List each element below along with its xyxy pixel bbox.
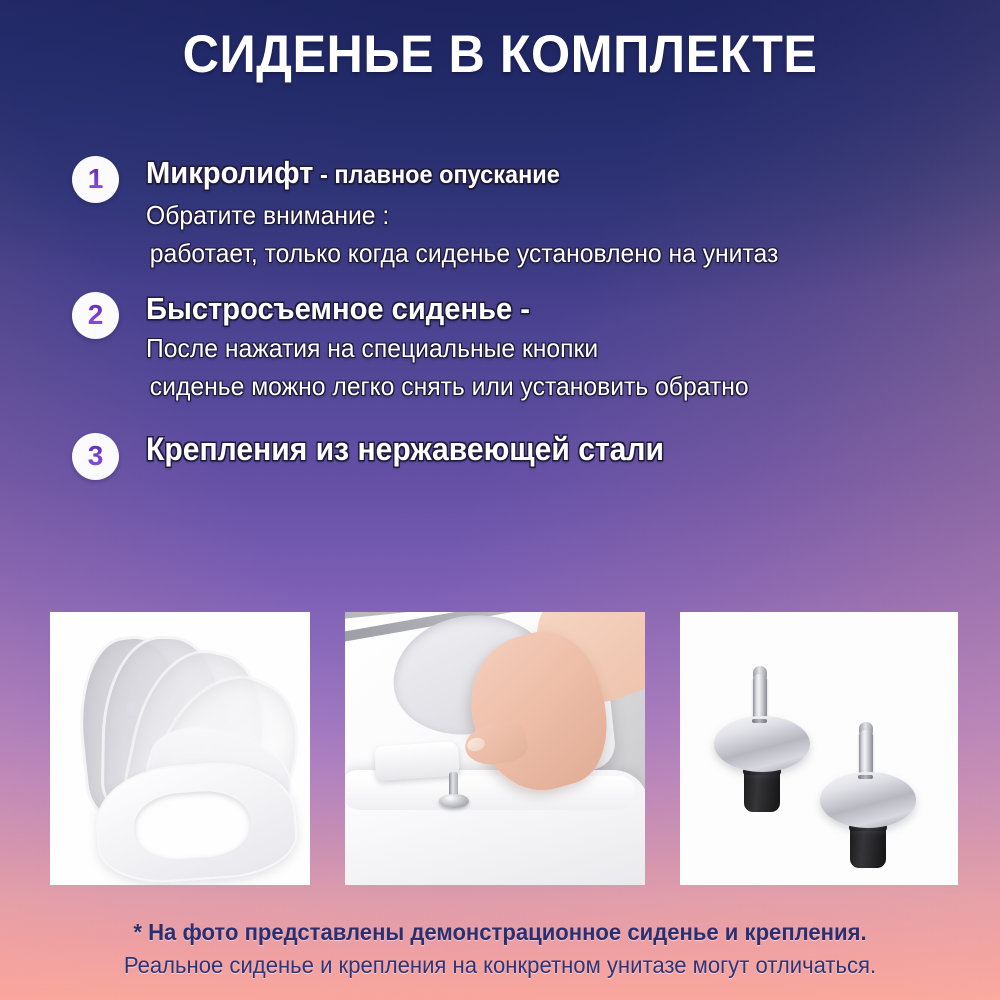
- feature-item-2: 2 Быстросъемное сиденье - После нажатия …: [0, 286, 1000, 405]
- product-feature-banner: СИДЕНЬЕ В КОМПЛЕКТЕ 1 Микролифт - плавно…: [0, 0, 1000, 1000]
- photo-strip: [50, 612, 958, 885]
- photo-stainless-steel-fixings: [680, 612, 958, 885]
- feature-line-2-2: сиденье можно легко снять или установить…: [146, 367, 749, 405]
- quick-release-illustration: [345, 612, 645, 885]
- feature-line-1-1: Обратите внимание :: [146, 196, 778, 234]
- toilet-bowl: [345, 770, 645, 885]
- feature-list: 1 Микролифт - плавное опускание Обратите…: [0, 150, 1000, 480]
- seat-ring-opening: [132, 788, 252, 862]
- feature-number-2: 2: [88, 301, 104, 329]
- fixing-pin-ring: [752, 719, 767, 723]
- feature-text-3: Крепления из нержавеющей стали: [146, 427, 697, 470]
- fixing-unit-right: [812, 698, 942, 878]
- feature-number-badge-3: 3: [72, 433, 119, 480]
- footnote: * На фото представлены демонстрационное …: [0, 916, 1000, 982]
- feature-text-2: Быстросъемное сиденье - После нажатия на…: [146, 286, 780, 405]
- fixing-chrome-cap: [714, 716, 810, 772]
- photo-quick-release-seat-removal: [345, 612, 645, 885]
- soft-close-illustration: [50, 612, 310, 885]
- banner-content: СИДЕНЬЕ В КОМПЛЕКТЕ 1 Микролифт - плавно…: [0, 0, 1000, 1000]
- feature-number-3: 3: [88, 442, 104, 470]
- feature-line-1-2: работает, только когда сиденье установле…: [146, 234, 778, 272]
- mounting-post-base: [439, 794, 469, 808]
- feature-item-1: 1 Микролифт - плавное опускание Обратите…: [0, 150, 1000, 272]
- feature-number-badge-2: 2: [72, 292, 119, 339]
- feature-heading-3: Крепления из нержавеющей стали: [146, 429, 664, 470]
- feature-heading-2: Быстросъемное сиденье -: [146, 288, 742, 329]
- footnote-line-1: * На фото представлены демонстрационное …: [20, 916, 980, 949]
- feature-line-2-1: После нажатия на специальные кнопки: [146, 329, 749, 367]
- feature-item-3: 3 Крепления из нержавеющей стали: [0, 427, 1000, 480]
- toilet-bowl-lip: [345, 776, 635, 810]
- feature-heading-1: Микролифт - плавное опускание: [146, 152, 772, 196]
- feature-text-1: Микролифт - плавное опускание Обратите в…: [146, 150, 812, 272]
- fixing-pin-ring: [858, 775, 873, 779]
- feature-number-1: 1: [88, 165, 104, 193]
- feature-number-badge-1: 1: [72, 156, 119, 203]
- feature-heading-main-1: Микролифт: [146, 155, 313, 190]
- photo-soft-close-seat-sequence: [50, 612, 310, 885]
- banner-title: СИДЕНЬЕ В КОМПЛЕКТЕ: [25, 24, 975, 86]
- fixing-chrome-cap: [820, 772, 916, 828]
- fixings-illustration: [680, 612, 958, 885]
- feature-heading-tail-1: - плавное опускание: [313, 161, 559, 189]
- footnote-line-2: Реальное сиденье и крепления на конкретн…: [20, 949, 980, 982]
- seat-hinge-housing: [374, 741, 460, 781]
